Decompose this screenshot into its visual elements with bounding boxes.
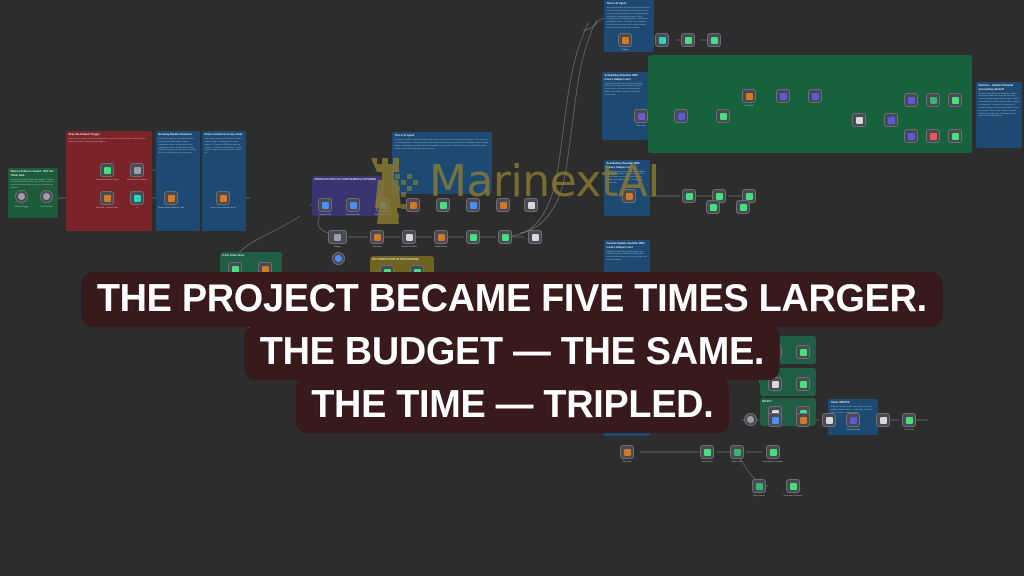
- sticky-title: When a ticket is created - GET the Ticke…: [8, 168, 58, 177]
- node-icon: [104, 167, 111, 174]
- workflow-node[interactable]: [948, 129, 962, 143]
- node-label: Insert Row In Database: [780, 495, 806, 497]
- node-icon: [716, 193, 723, 200]
- sticky-body: Extracts the booking / reservation numbe…: [156, 137, 200, 158]
- node-icon: [438, 234, 445, 241]
- workflow-node[interactable]: [436, 198, 450, 212]
- node-icon: [335, 255, 342, 262]
- node-icon: [772, 349, 779, 356]
- node-icon: [952, 133, 959, 140]
- sticky-title: Scheduling Classifier With Issue's Subje…: [602, 72, 648, 81]
- node-icon: [626, 193, 633, 200]
- workflow-node[interactable]: AI Agent: [618, 33, 632, 47]
- node-label: Detect Contact From Any Email: [210, 207, 236, 209]
- sticky-body: Merges the branches back together, forma…: [604, 386, 650, 395]
- sticky-body: Skip this if this dataset is already pop…: [66, 137, 152, 146]
- node-label: Code Node: [364, 246, 390, 248]
- node-label: Select Row: [628, 125, 654, 127]
- node-icon: [470, 234, 477, 241]
- screenshot-stage: This is AI Agent The agent classifies th…: [0, 0, 1024, 576]
- workflow-node[interactable]: [406, 318, 420, 332]
- node-icon: [772, 381, 779, 388]
- workflow-node[interactable]: Simple Memory: [434, 230, 448, 244]
- node-label: Edit Fields: [614, 461, 640, 463]
- workflow-node[interactable]: If: [130, 191, 144, 205]
- sticky-title: Accommodation classifier With Issue's Su…: [604, 312, 650, 321]
- workflow-node[interactable]: [620, 272, 634, 286]
- node-label: Download File: [312, 214, 338, 216]
- node-icon: [659, 37, 666, 44]
- node-icon: [638, 113, 645, 120]
- workflow-node[interactable]: [904, 93, 918, 107]
- sticky-note[interactable]: General Update classifier With Issue's S…: [604, 240, 650, 302]
- node-icon: [746, 193, 753, 200]
- sticky-note[interactable]: Booking Number Extractor Extracts the bo…: [156, 131, 200, 231]
- sticky-title: Scheduling Classifier With Issue's Subje…: [604, 160, 650, 169]
- node-icon: [880, 417, 887, 424]
- node-icon: [720, 276, 727, 283]
- node-icon: [624, 449, 631, 456]
- node-label: Update Ticket: [724, 461, 750, 463]
- sticky-body: The agent classifies the ticket, decides…: [392, 138, 492, 153]
- node-icon: [290, 322, 297, 329]
- node-icon: [850, 417, 857, 424]
- node-icon: [710, 204, 717, 211]
- node-icon: [746, 93, 753, 100]
- node-label: AI Agent: [612, 49, 638, 51]
- node-icon: [734, 449, 741, 456]
- workflow-node[interactable]: Insert Row In Database: [786, 479, 800, 493]
- workflow-node[interactable]: [674, 109, 688, 123]
- workflow-node[interactable]: Send Reply To Customer: [766, 445, 780, 459]
- node-icon: [930, 97, 937, 104]
- workflow-node[interactable]: [768, 413, 782, 427]
- workflow-node[interactable]: [258, 262, 272, 276]
- workflow-node[interactable]: [248, 318, 262, 332]
- sticky-body: The agent classifies the ticket, decides…: [604, 6, 654, 32]
- workflow-node[interactable]: No Operation, do nothing: [130, 163, 144, 177]
- node-label: Merge Data Streams: [370, 214, 396, 216]
- workflow-node[interactable]: Finance Handoff: [846, 413, 860, 427]
- node-icon: [756, 483, 763, 490]
- node-icon: [220, 195, 227, 202]
- workflow-node[interactable]: Extract From File: [346, 198, 360, 212]
- workflow-node[interactable]: [622, 189, 636, 203]
- workflow-node[interactable]: [498, 230, 512, 244]
- node-label: Send Reply To Customer: [760, 461, 786, 463]
- node-label: Get Ticket Data: [34, 206, 60, 208]
- node-icon: [452, 322, 459, 329]
- sticky-note[interactable]: Accommodation classifier With Issue's Su…: [604, 312, 650, 372]
- node-icon: [406, 234, 413, 241]
- node-icon: [622, 37, 629, 44]
- workflow-node[interactable]: Get Ticket Data: [40, 190, 53, 203]
- node-label: If: [124, 207, 150, 209]
- node-icon: [856, 117, 863, 124]
- node-label: Simple Memory: [428, 246, 454, 248]
- node-icon: [930, 133, 937, 140]
- node-icon: [528, 202, 535, 209]
- node-icon: [470, 202, 477, 209]
- group-label: SELECT: [760, 368, 816, 373]
- node-icon: [685, 37, 692, 44]
- workflow-node[interactable]: Update Ticket: [730, 445, 744, 459]
- workflow-node[interactable]: OpenAI Chat Model: [402, 230, 416, 244]
- node-icon: [334, 234, 341, 241]
- sticky-note[interactable]: Merge and Respond Merges the branches ba…: [604, 380, 650, 436]
- workflow-node[interactable]: Run Once - Dataset Trigger: [100, 191, 114, 205]
- node-icon: [800, 349, 807, 356]
- node-icon: [711, 37, 718, 44]
- workflow-node[interactable]: [716, 109, 730, 123]
- group-label: SELECT: [760, 398, 816, 403]
- workflow-node[interactable]: [286, 318, 300, 332]
- workflow-node[interactable]: [884, 113, 898, 127]
- node-icon: [380, 202, 387, 209]
- workflow-node[interactable]: [655, 33, 669, 47]
- node-icon: [500, 202, 507, 209]
- node-label: Switch Router: [694, 461, 720, 463]
- node-label: Code Node: [736, 105, 762, 107]
- node-icon: [678, 113, 685, 120]
- node-icon: [134, 167, 141, 174]
- node-icon: [104, 195, 111, 202]
- workflow-node[interactable]: [448, 318, 462, 332]
- workflow-canvas[interactable]: This is AI Agent The agent classifies th…: [0, 0, 1024, 576]
- sticky-body: Classifies the ticket into one of the sc…: [602, 81, 648, 99]
- node-icon: [906, 417, 913, 424]
- node-label: Finance Handoff: [840, 429, 866, 431]
- node-icon: [350, 202, 357, 209]
- node-icon: [720, 113, 727, 120]
- workflow-node[interactable]: [406, 198, 420, 212]
- workflow-node[interactable]: [380, 265, 394, 279]
- workflow-node[interactable]: [356, 318, 370, 332]
- workflow-node[interactable]: [852, 113, 866, 127]
- node-icon: [772, 417, 779, 424]
- node-icon: [747, 416, 754, 423]
- sticky-body: Classifies the ticket into one of the sc…: [604, 169, 650, 187]
- node-icon: [252, 322, 259, 329]
- node-icon: [322, 322, 329, 329]
- node-label: Create Dataset From Legacy: [94, 179, 120, 181]
- node-icon: [532, 234, 539, 241]
- node-icon: [690, 276, 697, 283]
- sticky-title: Detect contact from any email: [202, 131, 246, 137]
- node-label: AI Agent: [325, 246, 351, 248]
- group-label: PUT TICKET'S DATA IN THE DATABASE: [370, 256, 434, 261]
- workflow-node[interactable]: [768, 377, 782, 391]
- workflow-node[interactable]: [318, 318, 332, 332]
- sticky-title: Decision - Update Financial Accounting H…: [976, 82, 1022, 91]
- workflow-node[interactable]: Notify Channel: [752, 479, 766, 493]
- node-icon: [888, 117, 895, 124]
- sticky-note[interactable]: Scheduling Classifier With Issue's Subje…: [602, 72, 648, 140]
- node-icon: [800, 417, 807, 424]
- node-icon: [374, 234, 381, 241]
- node-icon: [770, 449, 777, 456]
- workflow-node[interactable]: [528, 318, 542, 332]
- workflow-node[interactable]: [736, 200, 750, 214]
- node-icon: [414, 269, 421, 276]
- node-icon: [800, 381, 807, 388]
- node-label: Webhook Trigger: [9, 206, 35, 208]
- workflow-node[interactable]: [466, 198, 480, 212]
- node-label: Booking Number Extractor Code: [158, 207, 184, 209]
- workflow-node[interactable]: [926, 129, 940, 143]
- node-icon: [440, 202, 447, 209]
- workflow-node[interactable]: AI Agent: [328, 230, 347, 244]
- group-label: DOWNLOAD AND FILE FROM SENDER (CUSTOMER): [312, 176, 384, 181]
- workflow-node[interactable]: [808, 89, 822, 103]
- workflow-node[interactable]: Detect Contact From Any Email: [216, 191, 230, 205]
- node-label: No Operation, do nothing: [124, 179, 150, 181]
- workflow-node[interactable]: Code Node: [742, 89, 756, 103]
- workflow-node[interactable]: [332, 252, 345, 265]
- node-icon: [908, 97, 915, 104]
- sticky-body: Fallback classifier for everything that …: [604, 249, 650, 264]
- node-icon: [410, 202, 417, 209]
- node-icon: [502, 234, 509, 241]
- workflow-node[interactable]: Merge Data Streams: [376, 198, 390, 212]
- node-label: Extract From File: [340, 214, 366, 216]
- node-icon: [43, 193, 50, 200]
- node-icon: [740, 204, 747, 211]
- workflow-node[interactable]: [466, 230, 480, 244]
- sticky-body: Handles accommodation related requests: …: [604, 321, 650, 336]
- workflow-node[interactable]: [822, 413, 836, 427]
- sticky-body: Context: tickets that touch invoicing or…: [976, 91, 1022, 120]
- sticky-note[interactable]: Detect contact from any email Looks up t…: [202, 131, 246, 231]
- workflow-node[interactable]: [716, 272, 730, 286]
- node-icon: [624, 276, 631, 283]
- node-icon: [826, 417, 833, 424]
- workflow-node[interactable]: [528, 230, 542, 244]
- sticky-title: General Update classifier With Issue's S…: [604, 240, 650, 249]
- node-label: Run Once - Dataset Trigger: [94, 207, 120, 209]
- workflow-node[interactable]: Switch Router: [700, 445, 714, 459]
- workflow-node[interactable]: [768, 345, 782, 359]
- sticky-body: Receives the webhook from the helpdesk. …: [8, 177, 58, 192]
- workflow-node[interactable]: [410, 265, 424, 279]
- workflow-node[interactable]: Booking Number Extractor Code: [164, 191, 178, 205]
- group-label: Ticket Intake Notes: [220, 252, 282, 257]
- workflow-node[interactable]: [796, 345, 810, 359]
- node-icon: [168, 195, 175, 202]
- node-icon: [790, 483, 797, 490]
- node-icon: [410, 322, 417, 329]
- node-group[interactable]: [648, 55, 972, 153]
- sticky-note[interactable]: Scheduling Classifier With Issue's Subje…: [604, 160, 650, 216]
- workflow-node[interactable]: [776, 89, 790, 103]
- workflow-node[interactable]: Webhook Trigger: [15, 190, 28, 203]
- workflow-node[interactable]: [926, 93, 940, 107]
- node-label: Notify Channel: [746, 495, 772, 497]
- workflow-node[interactable]: Code Node: [370, 230, 384, 244]
- workflow-node[interactable]: [876, 413, 890, 427]
- workflow-node[interactable]: [948, 93, 962, 107]
- workflow-node[interactable]: [496, 198, 510, 212]
- workflow-node[interactable]: [744, 413, 757, 426]
- workflow-node[interactable]: [796, 377, 810, 391]
- workflow-node[interactable]: [706, 200, 720, 214]
- workflow-node[interactable]: Select Row: [634, 109, 648, 123]
- workflow-node[interactable]: Edit Fields: [620, 445, 634, 459]
- node-icon: [134, 195, 141, 202]
- node-icon: [322, 202, 329, 209]
- node-icon: [704, 449, 711, 456]
- node-icon: [360, 322, 367, 329]
- node-icon: [232, 266, 239, 273]
- node-icon: [812, 93, 819, 100]
- node-icon: [686, 193, 693, 200]
- node-icon: [952, 97, 959, 104]
- workflow-node[interactable]: Close Ticket: [902, 413, 916, 427]
- sticky-note[interactable]: Decision - Update Financial Accounting H…: [976, 82, 1022, 148]
- workflow-node[interactable]: [228, 262, 242, 276]
- workflow-node[interactable]: [682, 189, 696, 203]
- node-label: OpenAI Chat Model: [396, 246, 422, 248]
- group-label: SELECT: [760, 336, 816, 341]
- node-icon: [262, 266, 269, 273]
- node-icon: [908, 133, 915, 140]
- workflow-node[interactable]: Create Dataset From Legacy: [100, 163, 114, 177]
- workflow-node[interactable]: [707, 33, 721, 47]
- sticky-body: Looks up the contact record from the sen…: [202, 137, 246, 158]
- node-icon: [780, 93, 787, 100]
- workflow-node[interactable]: [904, 129, 918, 143]
- workflow-node[interactable]: Download File: [318, 198, 332, 212]
- node-icon: [384, 269, 391, 276]
- node-label: Close Ticket: [896, 429, 922, 431]
- node-icon: [532, 322, 539, 329]
- workflow-node[interactable]: [681, 33, 695, 47]
- workflow-node[interactable]: [796, 413, 810, 427]
- node-icon: [18, 193, 25, 200]
- workflow-node[interactable]: [524, 198, 538, 212]
- workflow-node[interactable]: [686, 272, 700, 286]
- sticky-note[interactable]: This is AI Agent The agent classifies th…: [392, 132, 492, 194]
